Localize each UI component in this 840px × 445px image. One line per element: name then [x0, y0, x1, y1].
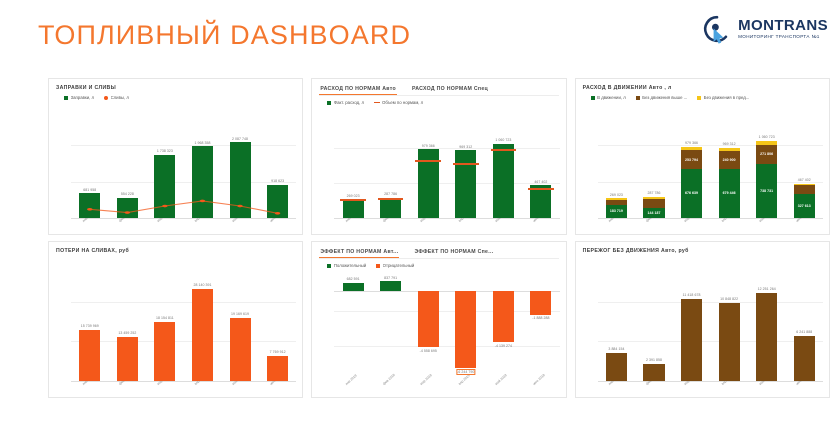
- stack-segment[interactable]: 253 794: [681, 150, 702, 168]
- stack-total-label: 1 060 723: [759, 135, 775, 139]
- bar[interactable]: [455, 291, 476, 368]
- legend-swatch-icon: [636, 96, 640, 100]
- stack-segment[interactable]: [643, 197, 664, 199]
- stack-total-label: 969 312: [723, 142, 736, 146]
- bar-value-label: 969 312: [459, 145, 472, 149]
- legend-item[interactable]: Сливы, л: [104, 95, 129, 100]
- logo-text-block: MONTRANS МОНИТОРИНГ ТРАНСПОРТА №1: [738, 18, 828, 40]
- panel-title-consumption-motion: РАСХОД В ДВИЖЕНИИ Авто , л: [583, 85, 822, 91]
- stack-segment[interactable]: 144 187: [643, 208, 664, 218]
- x-axis-label: янв 2019: [345, 374, 358, 386]
- bar-column[interactable]: фев 2019837 791: [372, 276, 410, 381]
- bar-column[interactable]: июн 2019-1 888 288: [522, 276, 560, 381]
- legend-item[interactable]: Заправки, л: [64, 95, 94, 100]
- bar-value-label: -6 244 790: [457, 370, 474, 374]
- bar-columns: янв 2019682 591фев 2019837 791мар 2019-4…: [334, 276, 559, 381]
- x-axis-label: мар 2019: [419, 373, 433, 386]
- logo-name: MONTRANS: [738, 18, 828, 33]
- legend-label: В движении, л: [597, 95, 626, 100]
- bar-value-label: 1 060 723: [495, 138, 511, 142]
- bar-column[interactable]: янв 201915 739 969: [71, 262, 109, 381]
- stack-segment[interactable]: 679 446: [719, 169, 740, 218]
- stacked-bar[interactable]: 676 639253 794: [681, 147, 702, 218]
- legend-item[interactable]: Факт. расход, л: [327, 100, 364, 105]
- bar-column[interactable]: фев 20192 391 858: [635, 262, 673, 381]
- tab-norms-1[interactable]: РАСХОД ПО НОРМАМ Спец: [411, 85, 489, 95]
- plot-consumption-norms: янв 2019269 023фев 2019287 786мар 201997…: [334, 113, 559, 218]
- bar-value-label: -1 888 288: [532, 316, 549, 320]
- legend-label: Положительный: [334, 263, 366, 268]
- panel-title-refuel-drain: ЗАПРАВКИ И СЛИВЫ: [56, 85, 295, 91]
- bar-column[interactable]: апр 2019679 446240 900969 312: [710, 109, 748, 218]
- stacked-bar[interactable]: 183 719: [606, 198, 627, 218]
- bar-column[interactable]: мар 201918 154 811: [146, 262, 184, 381]
- bar-column[interactable]: апр 201910 848 822: [710, 262, 748, 381]
- stack-segment[interactable]: 676 639: [681, 169, 702, 218]
- bar-value-label: 979 366: [422, 144, 435, 148]
- bar[interactable]: [493, 144, 514, 218]
- bar-column[interactable]: июн 2019467 402: [522, 113, 560, 218]
- bar-column[interactable]: июн 20196 241 888: [785, 262, 823, 381]
- bar-value-label: 6 241 888: [796, 330, 812, 334]
- bar[interactable]: [343, 283, 364, 291]
- tab-effect-1[interactable]: ЭФФЕКТ ПО НОРМАМ Спе...: [413, 248, 494, 258]
- x-axis-label: апр 2019: [457, 374, 470, 386]
- stack-segment[interactable]: [606, 200, 627, 205]
- stack-segment[interactable]: [643, 199, 664, 208]
- bar-column[interactable]: фев 2019287 786: [372, 113, 410, 218]
- bar-column[interactable]: май 2019738 731271 8061 060 723: [748, 109, 786, 218]
- legend-item[interactable]: Без движения в пред...: [697, 95, 749, 100]
- bar-value-label: 837 791: [384, 276, 397, 280]
- stacked-bar[interactable]: 327 613: [794, 184, 815, 218]
- x-axis-label: фев 2019: [382, 373, 396, 386]
- legend-swatch-icon: [327, 101, 331, 105]
- segment-value-label: 144 187: [647, 211, 660, 215]
- bar[interactable]: [343, 199, 364, 218]
- stack-total-label: 269 023: [610, 193, 623, 197]
- norm-marker: [491, 149, 517, 151]
- bar[interactable]: [530, 185, 551, 218]
- bar-value-label: 11 418 678: [683, 293, 701, 297]
- segment-value-label: 240 900: [723, 158, 736, 162]
- bar[interactable]: [530, 291, 551, 314]
- legend-item[interactable]: Объем по нормам, л: [374, 100, 423, 105]
- legend-label: Заправки, л: [71, 95, 95, 100]
- legend-swatch-icon: [591, 96, 595, 100]
- tabs-norms-effect: ЭФФЕКТ ПО НОРМАМ Авт...ЭФФЕКТ ПО НОРМАМ …: [319, 248, 558, 259]
- bar-value-label: 269 023: [347, 194, 360, 198]
- segment-value-label: 253 794: [685, 158, 698, 162]
- stack-segment[interactable]: [719, 148, 740, 152]
- legend-label: Сливы, л: [111, 95, 129, 100]
- bar-column[interactable]: май 201919 169 619: [221, 262, 259, 381]
- stack-total-label: 979 366: [685, 141, 698, 145]
- bar-column[interactable]: апр 2019-6 244 790: [447, 276, 485, 381]
- segment-value-label: 327 613: [798, 204, 811, 208]
- legend-norms-effect: ПоложительныйОтрицательный: [327, 263, 558, 268]
- tab-effect-0[interactable]: ЭФФЕКТ ПО НОРМАМ Авт...: [319, 248, 399, 258]
- bar-value-label: 7 769 912: [270, 350, 286, 354]
- bar-columns: янв 2019269 023фев 2019287 786мар 201997…: [334, 113, 559, 218]
- bar[interactable]: [230, 318, 251, 381]
- legend-label: Без движения в пред...: [704, 95, 750, 100]
- panel-refuel-drain: ЗАПРАВКИ И СЛИВЫ Заправки, лСливы, л янв…: [48, 78, 303, 235]
- legend-swatch-icon: [697, 96, 701, 100]
- legend-label: Объем по нормам, л: [382, 100, 423, 105]
- bar-value-label: 467 402: [534, 180, 547, 184]
- stack-total-label: 467 402: [798, 178, 811, 182]
- bar[interactable]: [380, 281, 401, 291]
- x-axis-label: июн 2019: [532, 373, 546, 386]
- stack-segment[interactable]: [681, 147, 702, 151]
- legend-item[interactable]: Отрицательный: [376, 263, 414, 268]
- bar[interactable]: [681, 299, 702, 381]
- legend-label: Факт. расход, л: [334, 100, 364, 105]
- norm-marker: [528, 188, 554, 190]
- plot-drain-losses: янв 201915 739 969фев 201913 459 252мар …: [71, 262, 296, 381]
- tabs-consumption-norms: РАСХОД ПО НОРМАМ АвтоРАСХОД ПО НОРМАМ Сп…: [319, 85, 558, 96]
- bar[interactable]: [643, 364, 664, 381]
- panel-drain-losses: ПОТЕРИ НА СЛИВАХ, руб янв 201915 739 969…: [48, 241, 303, 398]
- segment-value-label: 676 639: [685, 191, 698, 195]
- panel-consumption-motion: РАСХОД В ДВИЖЕНИИ Авто , л В движении, л…: [575, 78, 830, 235]
- norm-marker: [415, 160, 441, 162]
- stacked-bar[interactable]: 738 731271 806: [756, 141, 777, 218]
- bar-columns: янв 201915 739 969фев 201913 459 252мар …: [71, 262, 296, 381]
- bar-column[interactable]: май 2019-4 139 274: [485, 276, 523, 381]
- stack-segment[interactable]: [794, 184, 815, 185]
- x-axis-label: май 2019: [495, 373, 509, 386]
- bar[interactable]: [606, 353, 627, 381]
- montrans-logo: MONTRANS МОНИТОРИНГ ТРАНСПОРТА №1: [702, 14, 828, 44]
- bar-value-label: 15 739 969: [81, 324, 99, 328]
- stack-segment[interactable]: 738 731: [756, 164, 777, 218]
- stack-segment[interactable]: 271 806: [756, 145, 777, 165]
- stack-segment[interactable]: 240 900: [719, 151, 740, 169]
- legend-item[interactable]: Без движения выше ...: [636, 95, 688, 100]
- bar-column[interactable]: мар 201911 418 678: [673, 262, 711, 381]
- bar-column[interactable]: апр 201928 140 391: [184, 262, 222, 381]
- bar-column[interactable]: янв 2019682 591: [334, 276, 372, 381]
- legend-label: Без движения выше ...: [642, 95, 687, 100]
- bar-value-label: 19 169 619: [231, 312, 249, 316]
- legend-label: Отрицательный: [383, 263, 415, 268]
- panel-title-drain-losses: ПОТЕРИ НА СЛИВАХ, руб: [56, 248, 295, 254]
- drain-line-series: [71, 109, 296, 218]
- bar[interactable]: [267, 356, 288, 381]
- bar[interactable]: [79, 330, 100, 382]
- bar-value-label: 18 154 811: [156, 316, 174, 320]
- plot-consumption-motion: янв 2019183 719269 023фев 2019144 187287…: [598, 109, 823, 218]
- bar[interactable]: [117, 337, 138, 381]
- stack-segment[interactable]: [756, 141, 777, 145]
- bar-columns: янв 2019183 719269 023фев 2019144 187287…: [598, 109, 823, 218]
- panel-title-overburn-idle: ПЕРЕЖОГ БЕЗ ДВИЖЕНИЯ Авто, руб: [583, 248, 822, 254]
- bar-value-label: 682 591: [347, 277, 360, 281]
- bar-column[interactable]: май 20191 060 723: [485, 113, 523, 218]
- panel-norms-effect: ЭФФЕКТ ПО НОРМАМ Авт...ЭФФЕКТ ПО НОРМАМ …: [311, 241, 566, 398]
- bar[interactable]: [154, 322, 175, 381]
- bar[interactable]: [455, 150, 476, 218]
- axis-baseline: [598, 381, 823, 382]
- stack-segment[interactable]: [606, 198, 627, 199]
- bar-column[interactable]: янв 2019269 023: [334, 113, 372, 218]
- bar-column[interactable]: фев 2019144 187287 786: [635, 109, 673, 218]
- dashboard-page: ТОПЛИВНЫЙ DASHBOARD MONTRANS МОНИТОРИНГ …: [0, 0, 840, 445]
- bar-column[interactable]: янв 20193 884 154: [598, 262, 636, 381]
- plot-refuel-drain: янв 2019681 958фев 2019554 228мар 20191 …: [71, 109, 296, 218]
- plot-norms-effect: янв 2019682 591фев 2019837 791мар 2019-4…: [334, 276, 559, 381]
- bar-value-label: 12 251 264: [758, 287, 776, 291]
- plot-overburn-idle: янв 20193 884 154фев 20192 391 858мар 20…: [598, 262, 823, 381]
- legend-swatch-icon: [64, 96, 68, 100]
- bar[interactable]: [493, 291, 514, 342]
- stack-total-label: 287 786: [647, 191, 660, 195]
- bar-column[interactable]: фев 201913 459 252: [109, 262, 147, 381]
- axis-baseline: [71, 218, 296, 219]
- bar[interactable]: [719, 303, 740, 381]
- segment-value-label: 183 719: [610, 209, 623, 213]
- charts-grid: ЗАПРАВКИ И СЛИВЫ Заправки, лСливы, л янв…: [48, 78, 830, 398]
- segment-value-label: 679 446: [723, 191, 736, 195]
- axis-baseline: [334, 218, 559, 219]
- norm-marker: [453, 163, 479, 165]
- segment-value-label: 738 731: [760, 189, 773, 193]
- legend-swatch-icon: [376, 264, 380, 268]
- tab-norms-0[interactable]: РАСХОД ПО НОРМАМ Авто: [319, 85, 397, 95]
- legend-item[interactable]: В движении, л: [591, 95, 626, 100]
- stack-segment[interactable]: [794, 185, 815, 194]
- bar-value-label: 3 884 154: [608, 347, 624, 351]
- segment-value-label: 271 806: [760, 152, 773, 156]
- bar-column[interactable]: мар 2019979 366: [409, 113, 447, 218]
- legend-swatch-icon: [374, 102, 380, 104]
- norm-marker: [340, 199, 366, 201]
- bar-column[interactable]: мар 2019-4 558 695: [409, 276, 447, 381]
- bar[interactable]: [756, 293, 777, 381]
- bar-value-label: 287 786: [384, 192, 397, 196]
- legend-consumption-motion: В движении, лБез движения выше ...Без дв…: [591, 95, 822, 100]
- legend-swatch-icon: [327, 264, 331, 268]
- legend-item[interactable]: Положительный: [327, 263, 366, 268]
- bar[interactable]: [418, 291, 439, 347]
- bar-value-label: -4 139 274: [495, 344, 512, 348]
- stacked-bar[interactable]: 144 187: [643, 197, 664, 218]
- legend-swatch-icon: [104, 96, 108, 100]
- page-title: ТОПЛИВНЫЙ DASHBOARD: [38, 20, 411, 51]
- logo-subtitle: МОНИТОРИНГ ТРАНСПОРТА №1: [738, 35, 828, 40]
- bar-value-label: -4 558 695: [420, 349, 437, 353]
- axis-baseline: [598, 218, 823, 219]
- legend-refuel-drain: Заправки, лСливы, л: [64, 95, 295, 100]
- norm-marker: [378, 198, 404, 200]
- bar-columns: янв 20193 884 154фев 20192 391 858мар 20…: [598, 262, 823, 381]
- bar-value-label: 2 391 858: [646, 358, 662, 362]
- bar-column[interactable]: июн 20197 769 912: [259, 262, 297, 381]
- stack-segment[interactable]: 183 719: [606, 205, 627, 218]
- axis-baseline: [71, 381, 296, 382]
- bar-value-label: 13 459 252: [118, 331, 136, 335]
- legend-consumption-norms: Факт. расход, лОбъем по нормам, л: [327, 100, 558, 105]
- bar-column[interactable]: апр 2019969 312: [447, 113, 485, 218]
- montrans-logo-icon: [702, 14, 732, 44]
- panel-consumption-norms: РАСХОД ПО НОРМАМ АвтоРАСХОД ПО НОРМАМ Сп…: [311, 78, 566, 235]
- panel-overburn-idle: ПЕРЕЖОГ БЕЗ ДВИЖЕНИЯ Авто, руб янв 20193…: [575, 241, 830, 398]
- bar-column[interactable]: июн 2019327 613467 402: [785, 109, 823, 218]
- bar[interactable]: [380, 198, 401, 218]
- bar[interactable]: [192, 289, 213, 381]
- bar-column[interactable]: май 201912 251 264: [748, 262, 786, 381]
- bar[interactable]: [794, 336, 815, 381]
- stack-segment[interactable]: 327 613: [794, 194, 815, 218]
- stacked-bar[interactable]: 679 446240 900: [719, 148, 740, 218]
- bar-value-label: 10 848 822: [720, 297, 738, 301]
- bar-column[interactable]: мар 2019676 639253 794979 366: [673, 109, 711, 218]
- bar-column[interactable]: янв 2019183 719269 023: [598, 109, 636, 218]
- bar-value-label: 28 140 391: [193, 283, 211, 287]
